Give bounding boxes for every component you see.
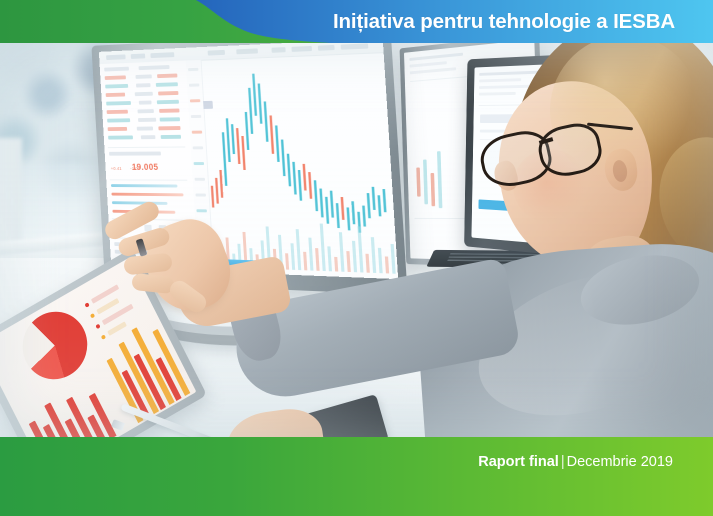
header-banner: Inițiativa pentru tehnologie a IESBA — [0, 0, 713, 43]
terminal-candlestick-chart — [201, 52, 399, 279]
report-cover-page: Inițiativa pentru tehnologie a IESBA — [0, 0, 713, 516]
footer-separator: | — [559, 454, 567, 470]
person-analyst — [455, 43, 713, 437]
candlestick-series — [201, 52, 399, 279]
report-status-label: Raport final — [478, 454, 559, 470]
cover-photo: 19.005 +0.41 -1.07 — [0, 43, 713, 437]
page-title: Inițiativa pentru tehnologie a IESBA — [333, 0, 675, 43]
footer-banner: Raport final|Decembrie 2019 — [0, 437, 713, 516]
report-date: Decembrie 2019 — [567, 454, 673, 470]
footer-caption: Raport final|Decembrie 2019 — [478, 454, 673, 470]
